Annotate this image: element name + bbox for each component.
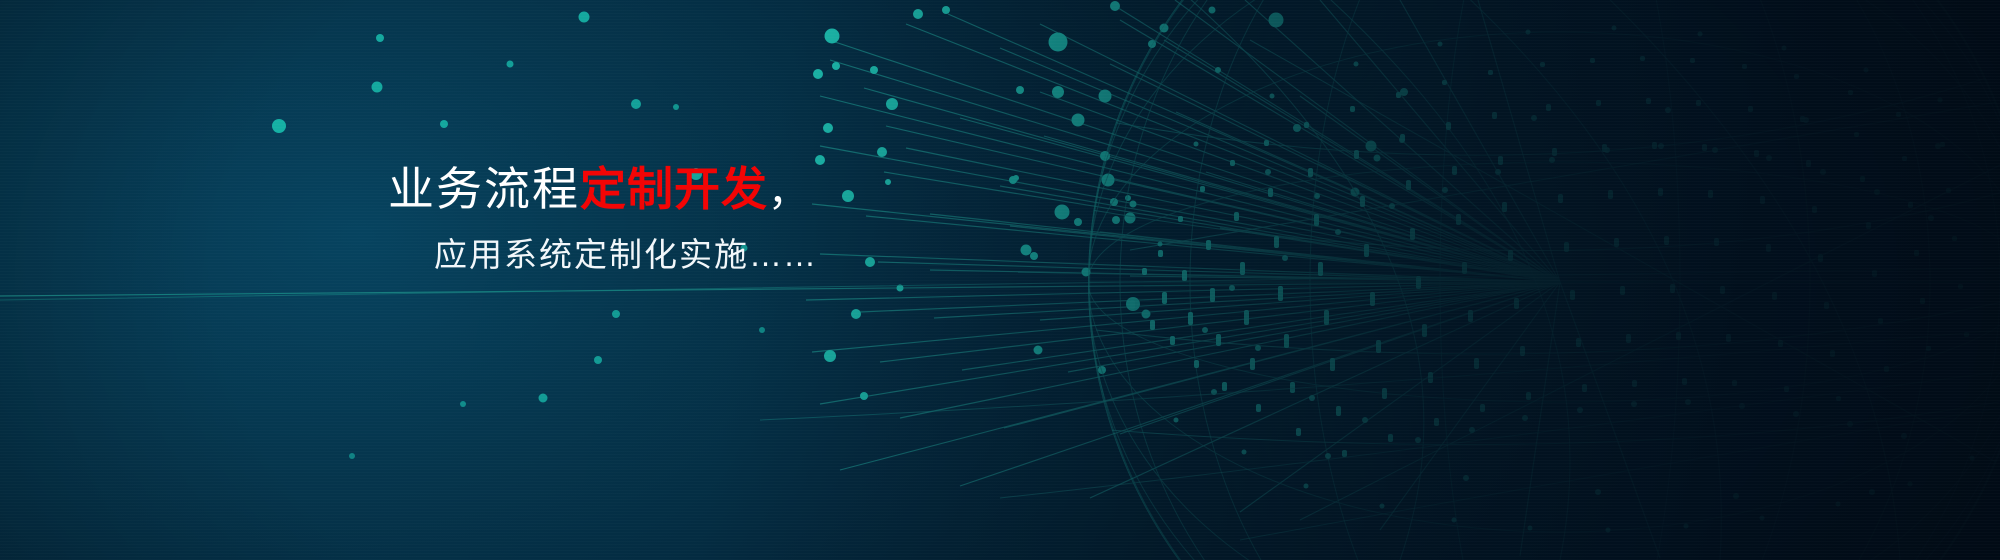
subheadline-ellipsis: ……	[749, 236, 817, 273]
headline-lead: 业务流程	[388, 163, 580, 215]
headline-comma: ，	[768, 170, 810, 214]
headline: 业务流程定制开发，	[388, 166, 817, 212]
background-texture	[0, 0, 2000, 560]
subheadline: 应用系统定制化实施……	[434, 238, 817, 271]
subheadline-text: 应用系统定制化实施	[434, 236, 749, 273]
headline-accent: 定制开发	[580, 163, 768, 215]
hero-banner: 业务流程定制开发， 应用系统定制化实施……	[0, 0, 2000, 560]
banner-copy: 业务流程定制开发， 应用系统定制化实施……	[388, 166, 817, 271]
